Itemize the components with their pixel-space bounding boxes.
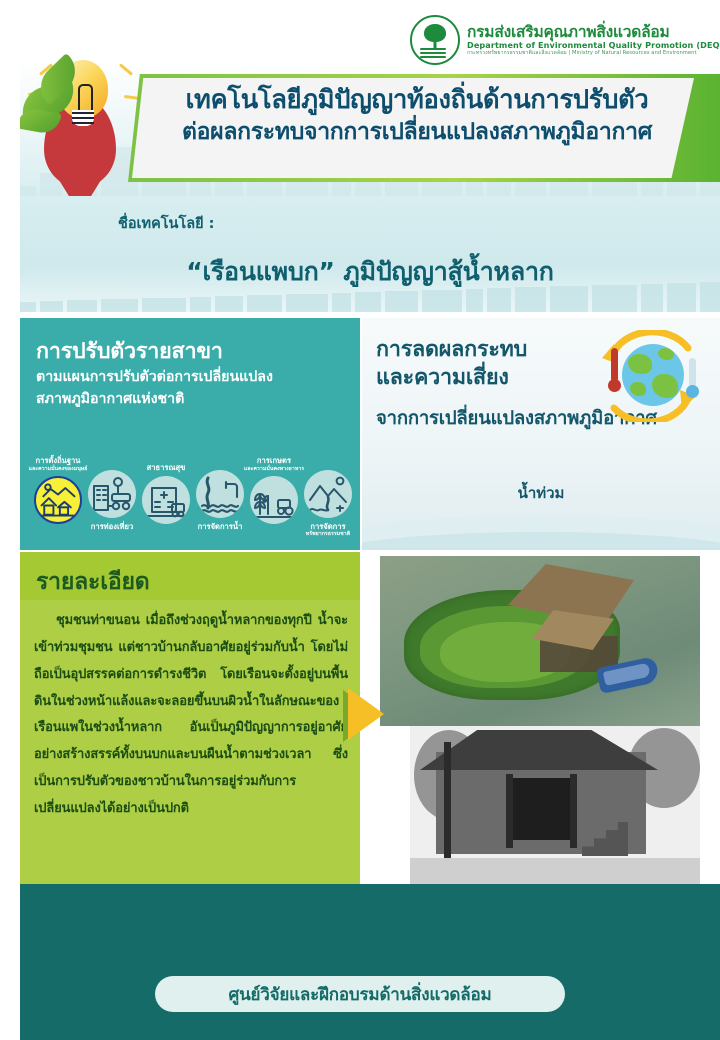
adaptation-panel: การปรับตัวรายสาขา ตามแผนการปรับตัวต่อการ…: [20, 318, 360, 550]
footer-text: ศูนย์วิจัยและฝึกอบรมด้านสิ่งแวดล้อม: [229, 981, 492, 1008]
org-name-english: Department of Environmental Quality Prom…: [467, 41, 720, 49]
cold-thermometer-icon: [688, 358, 697, 398]
deqp-logo-lockup: กรมส่งเสริมคุณภาพสิ่งแวดล้อม Department …: [410, 12, 710, 68]
sector-label-main: การท่องเที่ยว: [91, 522, 134, 531]
poster-title-line1: เทคโนโลยีภูมิปัญญาท้องถิ่นด้านการปรับตัว: [148, 84, 686, 118]
support-pole: [444, 742, 451, 860]
title-ribbon: เทคโนโลยีภูมิปัญญาท้องถิ่นด้านการปรับตัว…: [128, 74, 720, 182]
sector-label-main: การจัดการน้ำ: [198, 522, 243, 531]
historic-stilt-house-photo: [410, 726, 700, 884]
mitigation-heading-line1: การลดผลกระทบ: [376, 336, 527, 364]
adaptation-subheading-line1: ตามแผนการปรับตัวต่อการเปลี่ยนแปลง: [36, 366, 350, 388]
footer-pill: ศูนย์วิจัยและฝึกอบรมด้านสิ่งแวดล้อม: [155, 976, 565, 1012]
technology-label: ชื่อเทคโนโลยี :: [118, 212, 214, 235]
deqp-emblem-icon: [410, 15, 460, 65]
agriculture-icon: [250, 476, 298, 524]
sector-item-natural-resources[interactable]: การจัดการทรัพยากรธรรมชาติ: [304, 470, 352, 518]
filament-icon: [78, 84, 93, 112]
sector-item-health[interactable]: สาธารณสุข: [142, 476, 190, 524]
ground: [410, 858, 700, 884]
mitigation-heading-line2: และความเสี่ยง: [376, 364, 527, 392]
water-waves-icon: [420, 48, 446, 57]
poster-header: กรมส่งเสริมคุณภาพสิ่งแวดล้อม Department …: [0, 0, 720, 196]
porch-post: [506, 774, 513, 848]
sector-icon-row: การตั้งถิ่นฐานและความมั่นคงของมนุษย์การท…: [30, 450, 356, 542]
sector-label-main: สาธารณสุข: [147, 463, 186, 472]
mitigation-heading: การลดผลกระทบ และความเสี่ยง: [376, 336, 527, 393]
poster-title-line2: ต่อผลกระทบจากการเปลี่ยนแปลงสภาพภูมิอากาศ: [148, 118, 686, 148]
left-margin: [0, 0, 20, 1040]
sector-item-settlement[interactable]: การตั้งถิ่นฐานและความมั่นคงของมนุษย์: [34, 476, 82, 524]
mitigation-panel: การลดผลกระทบ และความเสี่ยง จากการเปลี่ยน…: [362, 318, 720, 550]
details-heading: รายละเอียด: [36, 564, 149, 600]
settlement-icon: [34, 476, 82, 524]
ministry-name: กระทรวงทรัพยากรธรรมชาติและสิ่งแวดล้อม | …: [467, 51, 720, 56]
climate-globe-icon: [592, 330, 704, 422]
poster-root: กรมส่งเสริมคุณภาพสิ่งแวดล้อม Department …: [0, 0, 720, 1040]
adaptation-subheading: ตามแผนการปรับตัวต่อการเปลี่ยนแปลง สภาพภู…: [36, 366, 350, 411]
org-name-thai: กรมส่งเสริมคุณภาพสิ่งแวดล้อม: [467, 24, 720, 40]
pointer-arrow-icon: [348, 688, 384, 740]
footer-bar: [0, 884, 720, 1040]
impact-type-label: น้ำท่วม: [362, 481, 720, 505]
details-body-text: ชุมชนท่าขนอน เมื่อถึงช่วงฤดูน้ำหลากของทุ…: [34, 608, 348, 823]
sector-label-main: การจัดการ: [310, 522, 345, 531]
adaptation-heading: การปรับตัวรายสาขา: [36, 334, 223, 368]
technology-name-band: ชื่อเทคโนโลยี : “เรือนแพบก” ภูมิปัญญาสู้…: [20, 196, 720, 312]
health-icon: [142, 476, 190, 524]
sector-item-agriculture[interactable]: การเกษตรและความมั่นคงทางอาหาร: [250, 476, 298, 524]
sector-label-main: การตั้งถิ่นฐาน: [35, 456, 80, 465]
water-management-icon: [196, 470, 244, 518]
hot-thermometer-icon: [610, 348, 619, 392]
sector-item-tourism[interactable]: การท่องเที่ยว: [88, 470, 136, 518]
natural-resources-icon: [304, 470, 352, 518]
adaptation-subheading-line2: สภาพภูมิอากาศแห่งชาติ: [36, 388, 350, 410]
sector-item-water-management[interactable]: การจัดการน้ำ: [196, 470, 244, 518]
tourism-icon: [88, 470, 136, 518]
bulb-base-icon: [72, 110, 94, 126]
house-porch: [510, 778, 576, 840]
lightbulb-pin-logo: [14, 52, 146, 202]
technology-name: “เรือนแพบก” ภูมิปัญญาสู้น้ำหลาก: [20, 252, 720, 292]
earth-globe-icon: [622, 344, 684, 406]
floating-house-photo: [380, 556, 700, 726]
porch-post: [570, 774, 577, 848]
sector-label-main: การเกษตร: [257, 456, 291, 465]
